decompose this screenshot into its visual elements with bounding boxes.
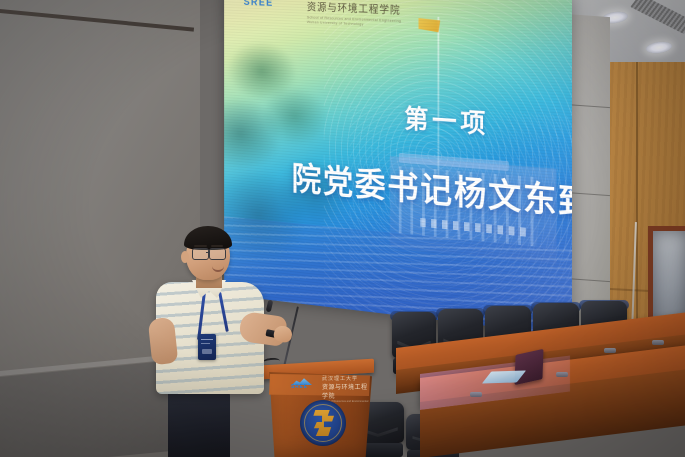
- id-badge: [198, 334, 216, 360]
- panel-seam: [566, 192, 610, 196]
- wut-circular-emblem-icon: [300, 400, 346, 446]
- table-mic-plate: [652, 340, 664, 345]
- speaker-hair: [184, 226, 232, 250]
- table-mic-plate: [470, 392, 482, 397]
- panel-seam: [566, 104, 610, 108]
- conference-hall-photo: SREE 武汉理工大学 资源与环境工程学院 School of Resource…: [0, 0, 685, 457]
- speaker-person: [148, 226, 290, 457]
- speaker-left-arm: [148, 317, 179, 365]
- glasses-bridge: [206, 252, 210, 253]
- badge-line: [201, 339, 213, 340]
- panel-seam: [566, 278, 610, 282]
- glasses-lens: [192, 248, 209, 260]
- speaker-eyebrow: [211, 245, 223, 247]
- screen-university-name: 武汉理工大学 资源与环境工程学院 School of Resources and…: [307, 0, 429, 29]
- sree-acronym: SREE: [244, 0, 274, 9]
- badge-line: [201, 343, 210, 344]
- glasses-lens: [209, 248, 226, 260]
- table-mic-plate: [556, 372, 568, 377]
- agenda-item-number: 第一项: [404, 98, 489, 141]
- podium-university-name-cn: 武汉理工大学: [322, 375, 370, 382]
- table-mic-plate: [604, 348, 616, 353]
- podium-sree-acronym: SREE: [291, 384, 308, 390]
- badge-photo: [202, 349, 212, 354]
- podium-college-name-cn: 资源与环境工程学院: [322, 382, 370, 400]
- speaker-eyebrow: [194, 245, 207, 247]
- speaker-ear: [181, 251, 189, 263]
- speaker-legs: [168, 388, 230, 457]
